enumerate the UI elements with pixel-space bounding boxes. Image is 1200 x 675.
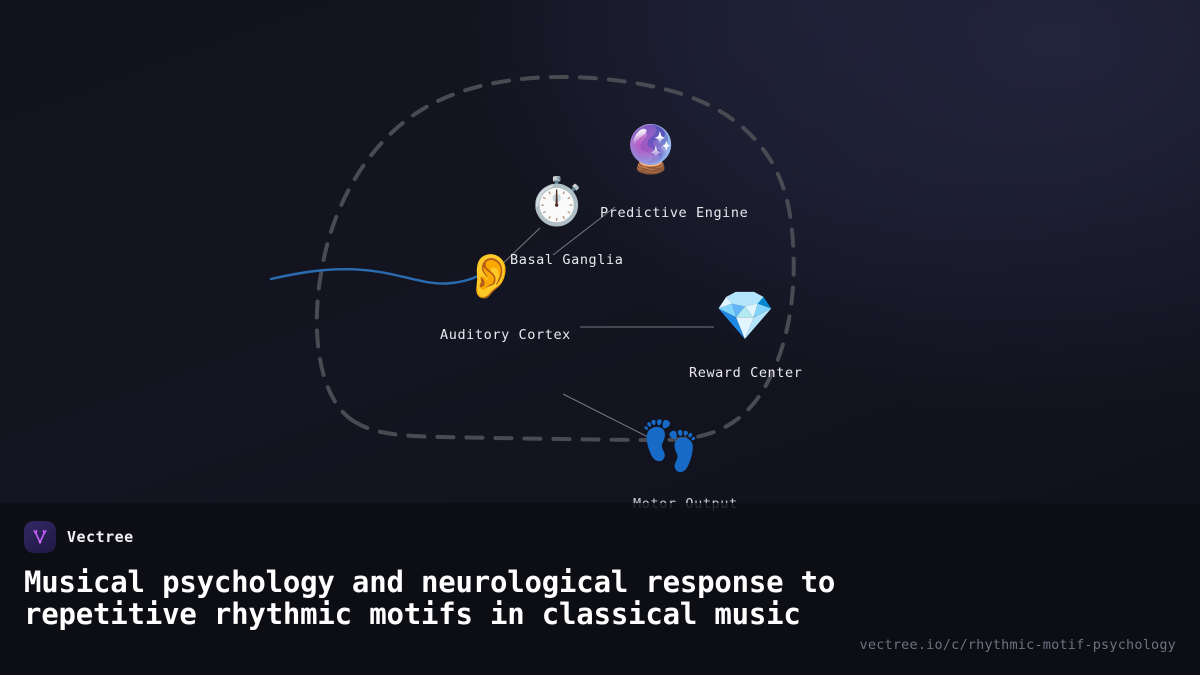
vectree-logo-icon xyxy=(24,521,56,553)
sound-wave xyxy=(271,269,486,283)
node-label-predictive-engine: Predictive Engine xyxy=(600,205,748,221)
crystal-ball-icon[interactable]: 🔮 xyxy=(622,126,668,172)
ear-icon[interactable]: 👂 xyxy=(463,255,507,299)
connector-reward-to-motor xyxy=(563,394,648,437)
screenshot-root: 👂 ⏱️ 🔮 💎 👣 Auditory Cortex Basal Ganglia… xyxy=(0,0,1200,675)
page-title: Musical psychology and neurological resp… xyxy=(24,566,884,630)
node-label-basal-ganglia: Basal Ganglia xyxy=(510,252,623,268)
node-label-auditory-cortex: Auditory Cortex xyxy=(440,327,571,343)
stopwatch-icon[interactable]: ⏱️ xyxy=(528,178,574,224)
gem-icon[interactable]: 💎 xyxy=(715,292,763,340)
node-label-reward-center: Reward Center xyxy=(689,365,802,381)
caption-panel: Vectree Musical psychology and neurologi… xyxy=(0,503,1200,675)
vectree-mark-svg xyxy=(30,527,50,547)
source-url: vectree.io/c/rhythmic-motif-psychology xyxy=(860,637,1176,653)
brand-row: Vectree xyxy=(24,521,1176,553)
brand-name: Vectree xyxy=(67,528,134,546)
footprints-icon[interactable]: 👣 xyxy=(640,422,688,470)
